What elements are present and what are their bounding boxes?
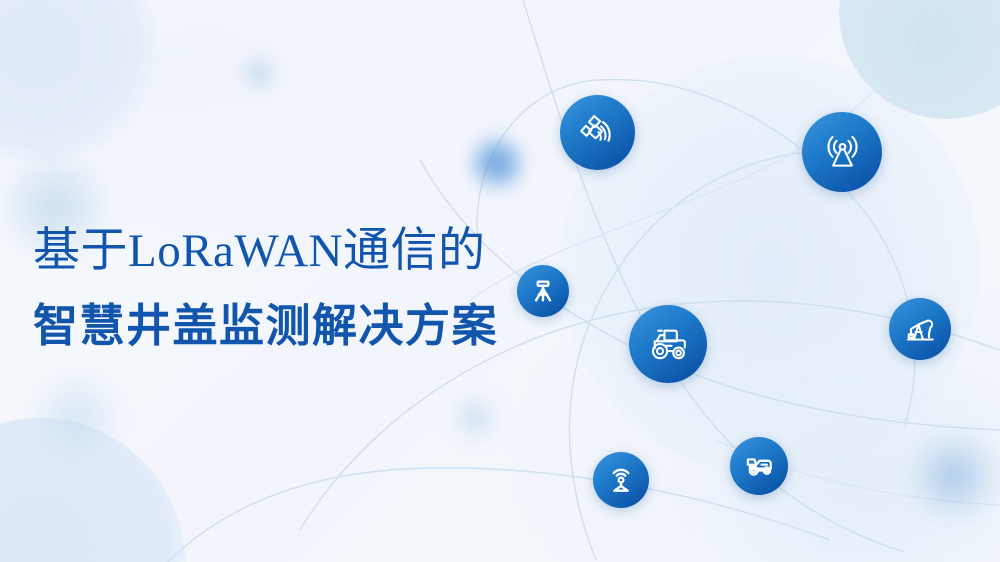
- harvester-icon-node[interactable]: [730, 437, 788, 495]
- title-line-2: 智慧井盖监测解决方案: [33, 303, 498, 348]
- tractor-icon: [645, 321, 691, 367]
- satellite-icon: [577, 112, 619, 154]
- radio-tower-icon-node[interactable]: [802, 112, 882, 192]
- radio-tower-icon: [820, 130, 865, 175]
- wireless-sensor-icon-node[interactable]: [593, 452, 649, 508]
- oil-pumpjack-icon-node[interactable]: [889, 298, 951, 360]
- survey-tripod-icon-node[interactable]: [517, 265, 569, 317]
- presentation-cover-slide: 基于LoRaWAN通信的 智慧井盖监测解决方案: [0, 0, 1000, 562]
- slide-title: 基于LoRaWAN通信的 智慧井盖监测解决方案: [33, 228, 498, 348]
- oil-pumpjack-icon: [902, 311, 938, 347]
- title-line-1: 基于LoRaWAN通信的: [33, 228, 498, 275]
- wireless-sensor-icon: [605, 464, 637, 496]
- harvester-icon: [742, 449, 776, 483]
- satellite-icon-node[interactable]: [560, 95, 635, 170]
- tractor-icon-node[interactable]: [629, 305, 707, 383]
- survey-tripod-icon: [529, 277, 557, 305]
